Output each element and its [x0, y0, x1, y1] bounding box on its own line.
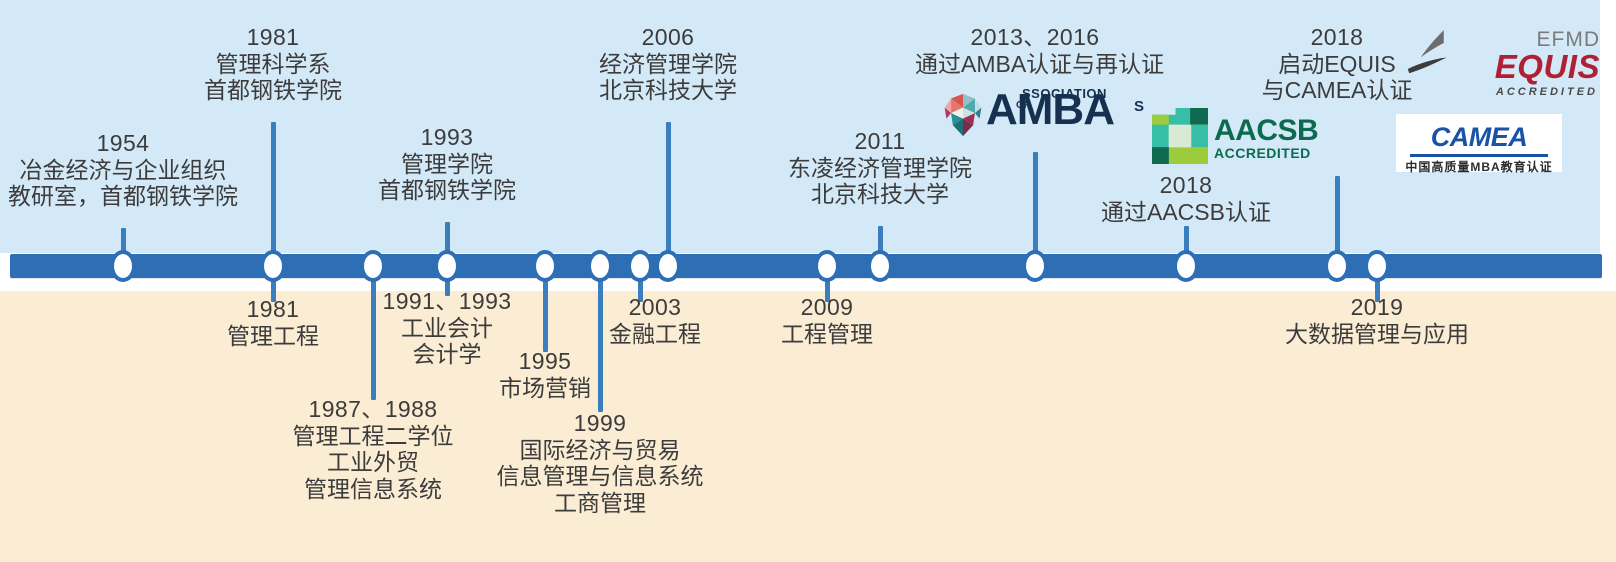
program-label-2009: 2009 工程管理	[712, 294, 942, 347]
timeline-node[interactable]	[360, 250, 386, 282]
event-line: 北京科技大学	[760, 181, 1000, 208]
timeline-node[interactable]	[260, 250, 286, 282]
timeline-node[interactable]	[655, 250, 681, 282]
equis-main-text: EQUIS	[1495, 50, 1600, 83]
timeline-node[interactable]	[1364, 250, 1390, 282]
event-year: 2013、2016	[915, 24, 1155, 51]
equis-accredited-text: ACCREDITED	[1496, 86, 1598, 98]
event-year: 1993	[327, 124, 567, 151]
program-label-2019: 2019 大数据管理与应用	[1262, 294, 1492, 347]
program-year: 1991、1993	[332, 288, 562, 315]
program-name: 市场营销	[430, 375, 660, 402]
aacsb-wordmark: AACSB ACCREDITED	[1214, 116, 1318, 161]
program-name: 管理工程二学位	[253, 423, 493, 450]
event-year: 2018	[1066, 172, 1306, 199]
camea-main-text: CAMEA	[1396, 122, 1562, 153]
stem-amba	[1033, 152, 1038, 258]
event-line: 教研室，首都钢铁学院	[0, 183, 246, 210]
event-line: 首都钢铁学院	[327, 177, 567, 204]
timeline-node[interactable]	[814, 250, 840, 282]
event-label-2006: 2006 经济管理学院 北京科技大学	[548, 24, 788, 104]
stem-2006	[666, 122, 671, 258]
amba-wordmark: AMBA SSOCIATION OF S	[986, 88, 1114, 132]
program-label-1995: 1995 市场营销	[430, 348, 660, 401]
aacsb-sub-text: ACCREDITED	[1214, 146, 1318, 161]
program-label-1987-1988: 1987、1988 管理工程二学位 工业外贸 管理信息系统	[253, 396, 493, 503]
event-line: 经济管理学院	[548, 51, 788, 78]
timeline-node[interactable]	[867, 250, 893, 282]
event-label-aacsb: 2018 通过AACSB认证	[1066, 172, 1306, 225]
amba-letter-a: A	[986, 85, 1017, 134]
timeline-node[interactable]	[627, 250, 653, 282]
event-label-1954: 1954 冶金经济与企业组织 教研室，首都钢铁学院	[0, 130, 246, 210]
stem-1981-dept	[271, 122, 276, 258]
event-year: 1981	[153, 24, 393, 51]
timeline-infographic: 1954 冶金经济与企业组织 教研室，首都钢铁学院 1981 管理科学系 首都钢…	[0, 0, 1616, 562]
program-name: 管理信息系统	[253, 476, 493, 503]
timeline-node[interactable]	[1324, 250, 1350, 282]
amba-of-text: OF	[1016, 100, 1030, 111]
event-label-1981-dept: 1981 管理科学系 首都钢铁学院	[153, 24, 393, 104]
timeline-node[interactable]	[587, 250, 613, 282]
amba-logo: AMBA SSOCIATION OF S	[940, 88, 1155, 144]
program-year: 2009	[712, 294, 942, 321]
event-line: 管理科学系	[153, 51, 393, 78]
timeline-node[interactable]	[1173, 250, 1199, 282]
event-line: 通过AMBA认证与再认证	[915, 51, 1155, 78]
program-name: 工业外贸	[253, 449, 493, 476]
timeline-node[interactable]	[1022, 250, 1048, 282]
timeline-node[interactable]	[110, 250, 136, 282]
equis-logo: EFMD EQUIS ACCREDITED	[1400, 20, 1600, 102]
event-label-amba: 2013、2016 通过AMBA认证与再认证	[915, 24, 1155, 77]
program-year: 2019	[1262, 294, 1492, 321]
timeline-node[interactable]	[532, 250, 558, 282]
event-label-1993-college: 1993 管理学院 首都钢铁学院	[327, 124, 567, 204]
program-year: 1995	[430, 348, 660, 375]
event-line: 管理学院	[327, 151, 567, 178]
program-name: 大数据管理与应用	[1262, 321, 1492, 348]
event-line: 冶金经济与企业组织	[0, 157, 246, 184]
stem-equis-camea	[1335, 176, 1340, 258]
program-label-1999: 1999 国际经济与贸易 信息管理与信息系统 工商管理	[480, 410, 720, 517]
program-name: 信息管理与信息系统	[480, 463, 720, 490]
efmd-swoosh-icon	[1402, 26, 1474, 86]
event-year: 1954	[0, 130, 246, 157]
aacsb-pinwheel-icon	[1152, 108, 1208, 164]
program-year: 1999	[480, 410, 720, 437]
aacsb-logo: AACSB ACCREDITED	[1152, 108, 1312, 166]
event-line: 东凌经济管理学院	[760, 155, 1000, 182]
aacsb-main-text: AACSB	[1214, 116, 1318, 146]
amba-ssociation-text: SSOCIATION	[1022, 86, 1107, 101]
event-line: 通过AACSB认证	[1066, 199, 1306, 226]
event-line: 首都钢铁学院	[153, 77, 393, 104]
program-name: 工程管理	[712, 321, 942, 348]
event-line: 北京科技大学	[548, 77, 788, 104]
program-name: 工商管理	[480, 490, 720, 517]
program-name: 工业会计	[332, 315, 562, 342]
amba-gem-icon	[940, 92, 986, 138]
event-year: 2006	[548, 24, 788, 51]
program-name: 国际经济与贸易	[480, 437, 720, 464]
timeline-node[interactable]	[434, 250, 460, 282]
amba-s-text: S	[1134, 98, 1144, 115]
camea-logo: CAMEA 中国高质量MBA教育认证	[1396, 114, 1562, 172]
camea-divider	[1410, 154, 1548, 157]
camea-sub-text: 中国高质量MBA教育认证	[1396, 158, 1562, 175]
